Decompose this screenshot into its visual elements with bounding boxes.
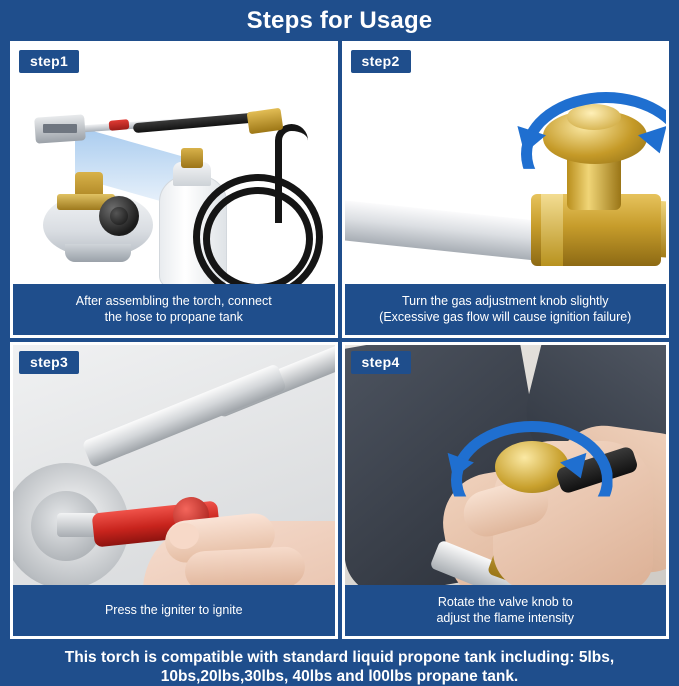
step-4-caption-line-2: adjust the flame intensity	[436, 610, 574, 626]
step-2-badge: step2	[351, 50, 411, 73]
torch-wand-lower	[82, 363, 287, 468]
torch-burner-tip	[57, 513, 97, 537]
middle-finger	[184, 546, 306, 585]
step-2-caption-line-2: (Excessive gas flow will cause ignition …	[379, 309, 631, 325]
step-card-2: step2 Turn the gas adjustment knob sligh…	[342, 41, 670, 338]
step-1-illustration	[13, 44, 335, 284]
step-3-caption-line-1: Press the igniter to ignite	[105, 602, 243, 618]
step-3-image: step3	[13, 345, 335, 585]
step-2-image: step2	[345, 44, 667, 284]
step-4-caption-line-1: Rotate the valve knob to	[438, 594, 573, 610]
usage-steps-infographic: Steps for Usage	[0, 0, 679, 679]
step-card-4: step4 Rotate the valve knob to adjust th…	[342, 342, 670, 639]
step-1-caption-line-1: After assembling the torch, connect	[76, 293, 272, 309]
step-1-caption: After assembling the torch, connect the …	[13, 284, 335, 335]
step-card-3: step3 Press the igniter to ignite	[10, 342, 338, 639]
step-2-caption-line-1: Turn the gas adjustment knob slightly	[402, 293, 609, 309]
compatibility-note-line-1: This torch is compatible with standard l…	[10, 648, 669, 667]
step-3-illustration	[13, 345, 335, 585]
step-4-illustration	[345, 345, 667, 585]
brass-valve-assembly	[247, 108, 284, 135]
step-2-caption: Turn the gas adjustment knob slightly (E…	[345, 284, 667, 335]
step-4-badge: step4	[351, 351, 411, 374]
nozzle-label	[43, 124, 77, 133]
torch-hose-section	[133, 113, 253, 133]
page-title: Steps for Usage	[247, 7, 433, 35]
step-1-image: step1	[13, 44, 335, 284]
step-4-caption: Rotate the valve knob to adjust the flam…	[345, 585, 667, 636]
compatibility-note: This torch is compatible with standard l…	[10, 648, 669, 686]
step-4-image: step4	[345, 345, 667, 585]
igniter-grip	[109, 119, 130, 131]
steps-grid: step1 After assembling the torch, connec…	[10, 41, 669, 639]
compatibility-note-line-2: 10bs,20lbs,30lbs, 40lbs and l00lbs propa…	[10, 667, 669, 686]
tank-valve-knob-center	[110, 207, 128, 225]
hose-run	[275, 124, 308, 223]
step-1-caption-line-2: the hose to propane tank	[105, 309, 243, 325]
cylinder-valve	[181, 148, 203, 168]
step-card-1: step1 After assembling the torch, connec…	[10, 41, 338, 338]
step-3-caption: Press the igniter to ignite	[13, 585, 335, 636]
brass-valve-band	[541, 194, 563, 266]
step-2-illustration	[345, 44, 667, 284]
step-3-badge: step3	[19, 351, 79, 374]
propane-tank-foot	[65, 244, 131, 262]
step-1-badge: step1	[19, 50, 79, 73]
